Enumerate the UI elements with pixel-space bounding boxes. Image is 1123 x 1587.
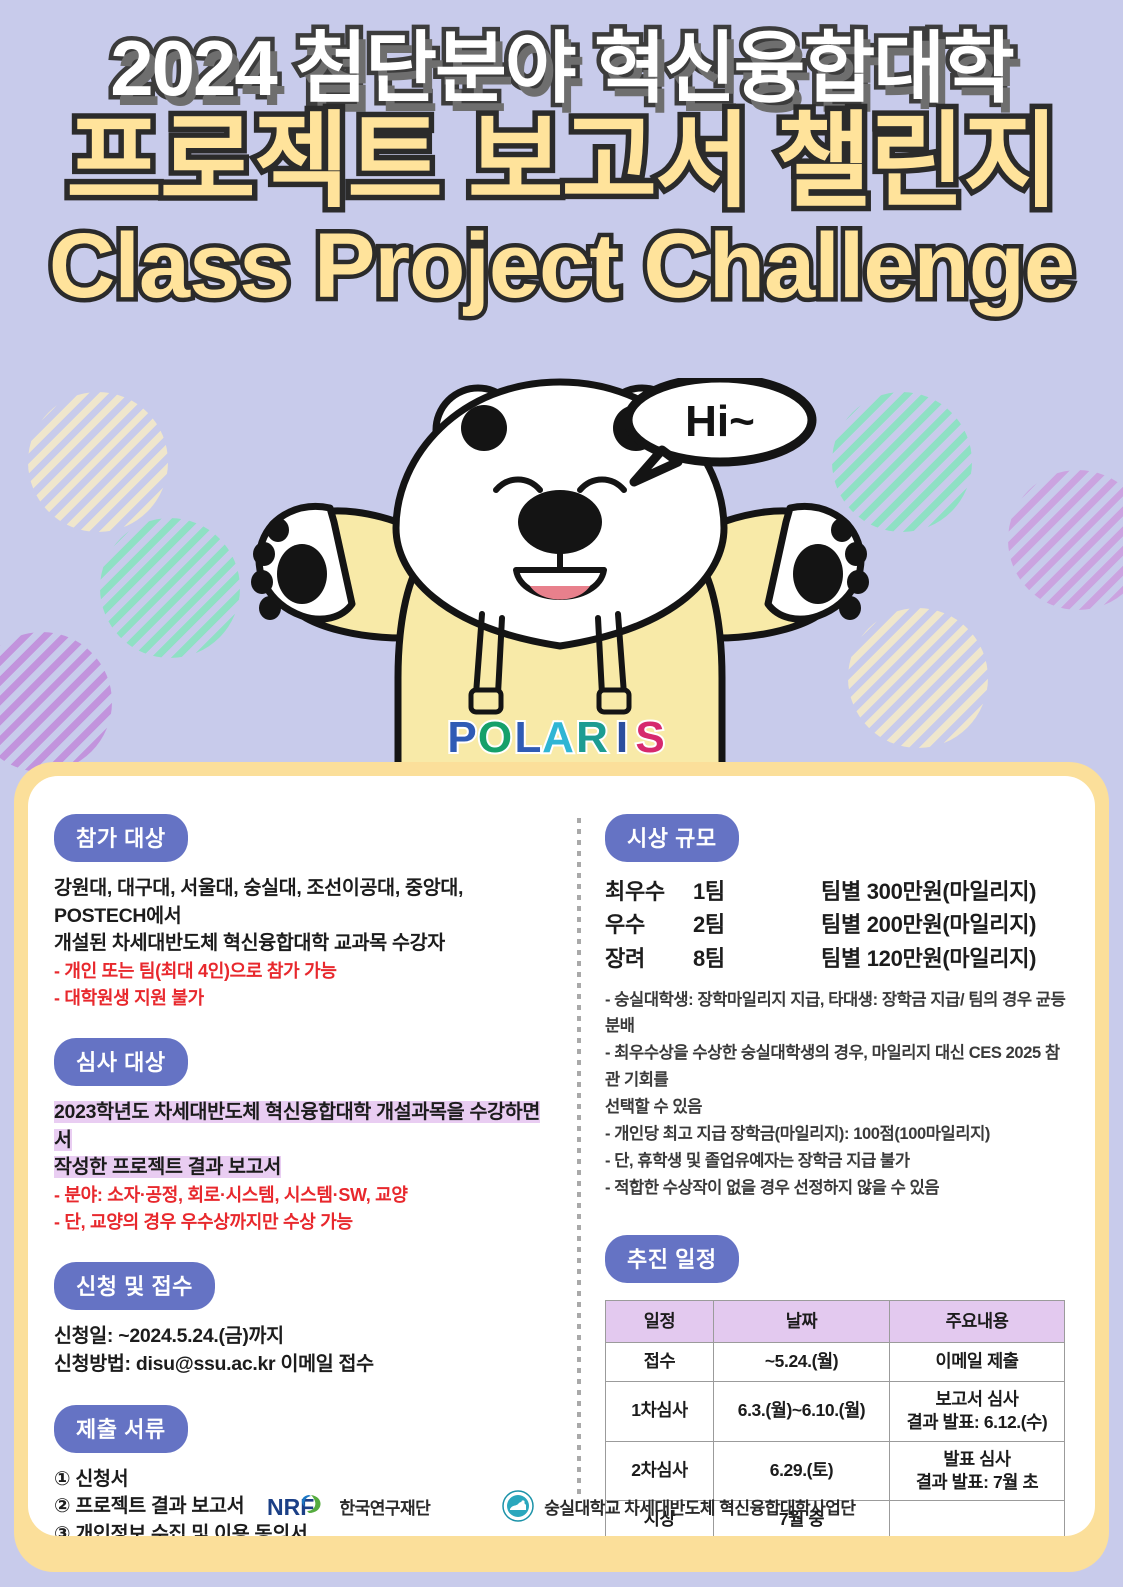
review-highlight-2: 작성한 프로젝트 결과 보고서 — [54, 1154, 545, 1182]
participants-note-1: - 개인 또는 팀(최대 4인)으로 참가 가능 — [54, 958, 545, 985]
badge-prizes: 시상 규모 — [605, 814, 739, 862]
title-line-2: 프로젝트 보고서 챌린지 — [0, 106, 1123, 218]
review-highlight-1: 2023학년도 차세대반도체 혁신융합대학 개설과목을 수강하면서 — [54, 1099, 545, 1154]
right-column: 시상 규모 최우수 1팀 팀별 300만원(마일리지) 우수 2팀 팀별 200… — [599, 814, 1069, 1536]
left-column: 참가 대상 강원대, 대구대, 서울대, 숭실대, 조선이공대, 중앙대, PO… — [54, 814, 559, 1536]
participants-line-1: 강원대, 대구대, 서울대, 숭실대, 조선이공대, 중앙대, POSTECH에… — [54, 875, 545, 930]
info-card-frame: 참가 대상 강원대, 대구대, 서울대, 숭실대, 조선이공대, 중앙대, PO… — [14, 762, 1109, 1572]
nrf-logo-icon: NRF — [267, 1491, 329, 1521]
svg-text:NRF: NRF — [267, 1494, 314, 1520]
nrf-logo-label: 한국연구재단 — [339, 1494, 430, 1519]
badge-schedule: 추진 일정 — [605, 1235, 739, 1283]
cell-date: ~5.24.(월) — [714, 1343, 890, 1381]
speech-bubble: Hi~ — [628, 378, 812, 482]
info-card: 참가 대상 강원대, 대구대, 서울대, 숭실대, 조선이공대, 중앙대, PO… — [28, 776, 1095, 1536]
deco-circle-purple-left — [0, 632, 112, 772]
section-application: 신청 및 접수 신청일: ~2024.5.24.(금)까지 신청방법: disu… — [54, 1262, 545, 1378]
prize-notes: - 숭실대학생: 장학마일리지 지급, 타대생: 장학금 지급/ 팀의 경우 균… — [605, 987, 1069, 1201]
svg-text:S: S — [635, 713, 664, 762]
application-method: 신청방법: disu@ssu.ac.kr 이메일 접수 — [54, 1351, 545, 1379]
prize-teams: 8팀 — [693, 942, 821, 975]
prize-note: - 적합한 수상작이 없을 경우 선정하지 않을 수 있음 — [605, 1175, 1069, 1201]
review-note-1: - 분야: 소자·공정, 회로·시스템, 시스템·SW, 교양 — [54, 1182, 545, 1209]
title-line-1: 2024 첨단분야 혁신융합대학 — [0, 28, 1123, 110]
prize-amount: 팀별 300만원(마일리지) — [821, 875, 1036, 908]
prize-note: - 숭실대학생: 장학마일리지 지급, 타대생: 장학금 지급/ 팀의 경우 균… — [605, 987, 1069, 1039]
title-line-3: Class Project Challenge — [0, 220, 1123, 314]
svg-text:I: I — [616, 713, 628, 762]
ssu-seal-icon — [502, 1490, 534, 1522]
cell-content: 보고서 심사 결과 발표: 6.12.(수) — [890, 1381, 1065, 1441]
poster-header: 2024 첨단분야 혁신융합대학 프로젝트 보고서 챌린지 Class Proj… — [0, 0, 1123, 314]
application-date: 신청일: ~2024.5.24.(금)까지 — [54, 1323, 545, 1351]
prize-note: - 개인당 최고 지급 장학금(마일리지): 100점(100마일리지) — [605, 1121, 1069, 1147]
prize-teams: 2팀 — [693, 908, 821, 941]
section-prizes: 시상 규모 최우수 1팀 팀별 300만원(마일리지) 우수 2팀 팀별 200… — [605, 814, 1069, 1201]
prize-row: 최우수 1팀 팀별 300만원(마일리지) — [605, 875, 1069, 908]
section-participants: 참가 대상 강원대, 대구대, 서울대, 숭실대, 조선이공대, 중앙대, PO… — [54, 814, 545, 1012]
svg-text:O: O — [478, 713, 512, 762]
prize-note: - 단, 휴학생 및 졸업유예자는 장학금 지급 불가 — [605, 1148, 1069, 1174]
prize-row: 우수 2팀 팀별 200만원(마일리지) — [605, 908, 1069, 941]
col-header-content: 주요내용 — [890, 1300, 1065, 1342]
prize-amount: 팀별 200만원(마일리지) — [821, 908, 1036, 941]
section-review-target: 심사 대상 2023학년도 차세대반도체 혁신융합대학 개설과목을 수강하면서 … — [54, 1038, 545, 1236]
prize-note: - 최우수상을 수상한 숭실대학생의 경우, 마일리지 대신 CES 2025 … — [605, 1040, 1069, 1092]
table-row: 접수 ~5.24.(월) 이메일 제출 — [606, 1343, 1065, 1381]
badge-application: 신청 및 접수 — [54, 1262, 215, 1310]
badge-participants: 참가 대상 — [54, 814, 188, 862]
col-header-date: 날짜 — [714, 1300, 890, 1342]
footer-logos: NRF 한국연구재단 숭실대학교 차세대반도체 혁신융합대학사업단 — [28, 1490, 1095, 1522]
svg-text:P: P — [447, 713, 476, 762]
participants-line-2: 개설된 차세대반도체 혁신융합대학 교과목 수강자 — [54, 930, 545, 958]
table-header-row: 일정 날짜 주요내용 — [606, 1300, 1065, 1342]
logo-ssu: 숭실대학교 차세대반도체 혁신융합대학사업단 — [502, 1490, 855, 1522]
badge-documents: 제출 서류 — [54, 1405, 188, 1453]
table-row: 1차심사 6.3.(월)~6.10.(월) 보고서 심사 결과 발표: 6.12… — [606, 1381, 1065, 1441]
prize-note: 선택할 수 있음 — [605, 1094, 1069, 1120]
document-item: ③ 개인정보 수집 및 이용 동의서 — [54, 1521, 545, 1536]
cell-date: 6.3.(월)~6.10.(월) — [714, 1381, 890, 1441]
col-header-phase: 일정 — [606, 1300, 714, 1342]
ssu-logo-label: 숭실대학교 차세대반도체 혁신융합대학사업단 — [544, 1494, 855, 1519]
cell-phase: 접수 — [606, 1343, 714, 1381]
logo-nrf: NRF 한국연구재단 — [267, 1491, 430, 1521]
prize-rank: 장려 — [605, 942, 693, 975]
review-note-2: - 단, 교양의 경우 우수상까지만 수상 가능 — [54, 1209, 545, 1236]
svg-text:R: R — [576, 713, 608, 762]
svg-text:L: L — [515, 713, 542, 762]
prize-amount: 팀별 120만원(마일리지) — [821, 942, 1036, 975]
prize-rank: 최우수 — [605, 875, 693, 908]
speech-bubble-text: Hi~ — [685, 397, 755, 446]
column-divider — [577, 818, 581, 1500]
polar-bear-mascot: P O L A R I S Hi~ — [210, 378, 910, 798]
cell-phase: 1차심사 — [606, 1381, 714, 1441]
badge-review-target: 심사 대상 — [54, 1038, 188, 1086]
deco-circle-lilac-right — [1008, 470, 1123, 610]
prize-row: 장려 8팀 팀별 120만원(마일리지) — [605, 942, 1069, 975]
prize-teams: 1팀 — [693, 875, 821, 908]
deco-circle-cream-left — [28, 392, 168, 532]
participants-note-2: - 대학원생 지원 불가 — [54, 985, 545, 1012]
cell-content: 이메일 제출 — [890, 1343, 1065, 1381]
svg-text:A: A — [542, 713, 574, 762]
prize-rank: 우수 — [605, 908, 693, 941]
